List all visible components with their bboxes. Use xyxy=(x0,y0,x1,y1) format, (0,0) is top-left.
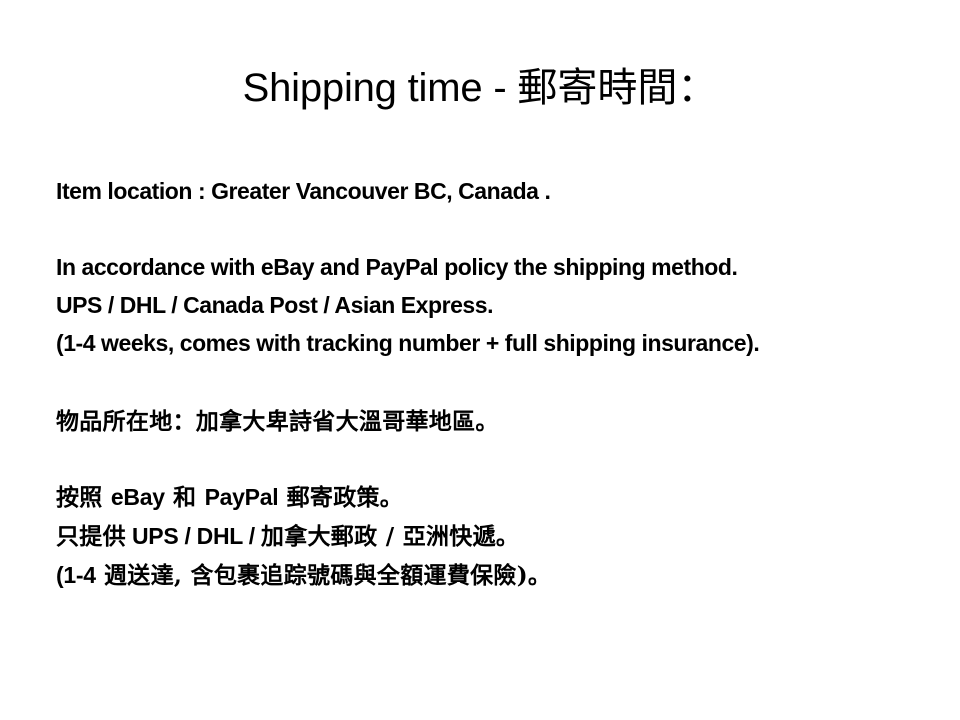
english-policy-line: In accordance with eBay and PayPal polic… xyxy=(56,248,916,286)
chinese-policy-brand-paypal: PayPal xyxy=(205,484,279,510)
chinese-carriers-brands: UPS / DHL / xyxy=(126,523,261,549)
english-carriers-line: UPS / DHL / Canada Post / Asian Express. xyxy=(56,286,916,324)
spacer-after-english-block xyxy=(56,362,916,402)
chinese-terms-range: 1-4 xyxy=(63,562,95,588)
chinese-terms-suffix: 週送達, 含包裹追踪號碼與全額運費保險)。 xyxy=(96,562,552,589)
chinese-policy-brand-ebay: eBay xyxy=(111,484,165,510)
chinese-policy-line: 按照 eBay 和 PayPal 郵寄政策。 xyxy=(56,478,916,517)
chinese-terms-line: (1-4 週送達, 含包裹追踪號碼與全額運費保險)。 xyxy=(56,556,916,595)
slide-canvas: Shipping time - 郵寄時間： Item location : Gr… xyxy=(0,0,960,720)
chinese-policy-suffix: 郵寄政策。 xyxy=(278,484,403,511)
english-item-location-line: Item location : Greater Vancouver BC, Ca… xyxy=(56,172,916,210)
page-title: Shipping time - 郵寄時間： xyxy=(0,64,960,112)
chinese-item-location-line: 物品所在地：加拿大卑詩省大溫哥華地區。 xyxy=(56,402,916,441)
title-latin: Shipping time - xyxy=(243,66,518,110)
content-body: Item location : Greater Vancouver BC, Ca… xyxy=(56,172,916,595)
chinese-carriers-line: 只提供 UPS / DHL / 加拿大郵政 / 亞洲快遞。 xyxy=(56,517,916,556)
title-text: Shipping time - 郵寄時間： xyxy=(243,64,718,112)
chinese-carriers-prefix: 只提供 xyxy=(56,523,126,550)
spacer-after-item-location xyxy=(56,210,916,248)
spacer-after-chinese-location xyxy=(56,441,916,478)
chinese-policy-middle: 和 xyxy=(165,484,205,511)
chinese-carriers-suffix: 加拿大郵政 / 亞洲快遞。 xyxy=(261,523,519,550)
title-cjk: 郵寄時間： xyxy=(517,65,717,111)
english-terms-line: (1-4 weeks, comes with tracking number +… xyxy=(56,324,916,362)
chinese-policy-prefix: 按照 xyxy=(56,484,111,511)
